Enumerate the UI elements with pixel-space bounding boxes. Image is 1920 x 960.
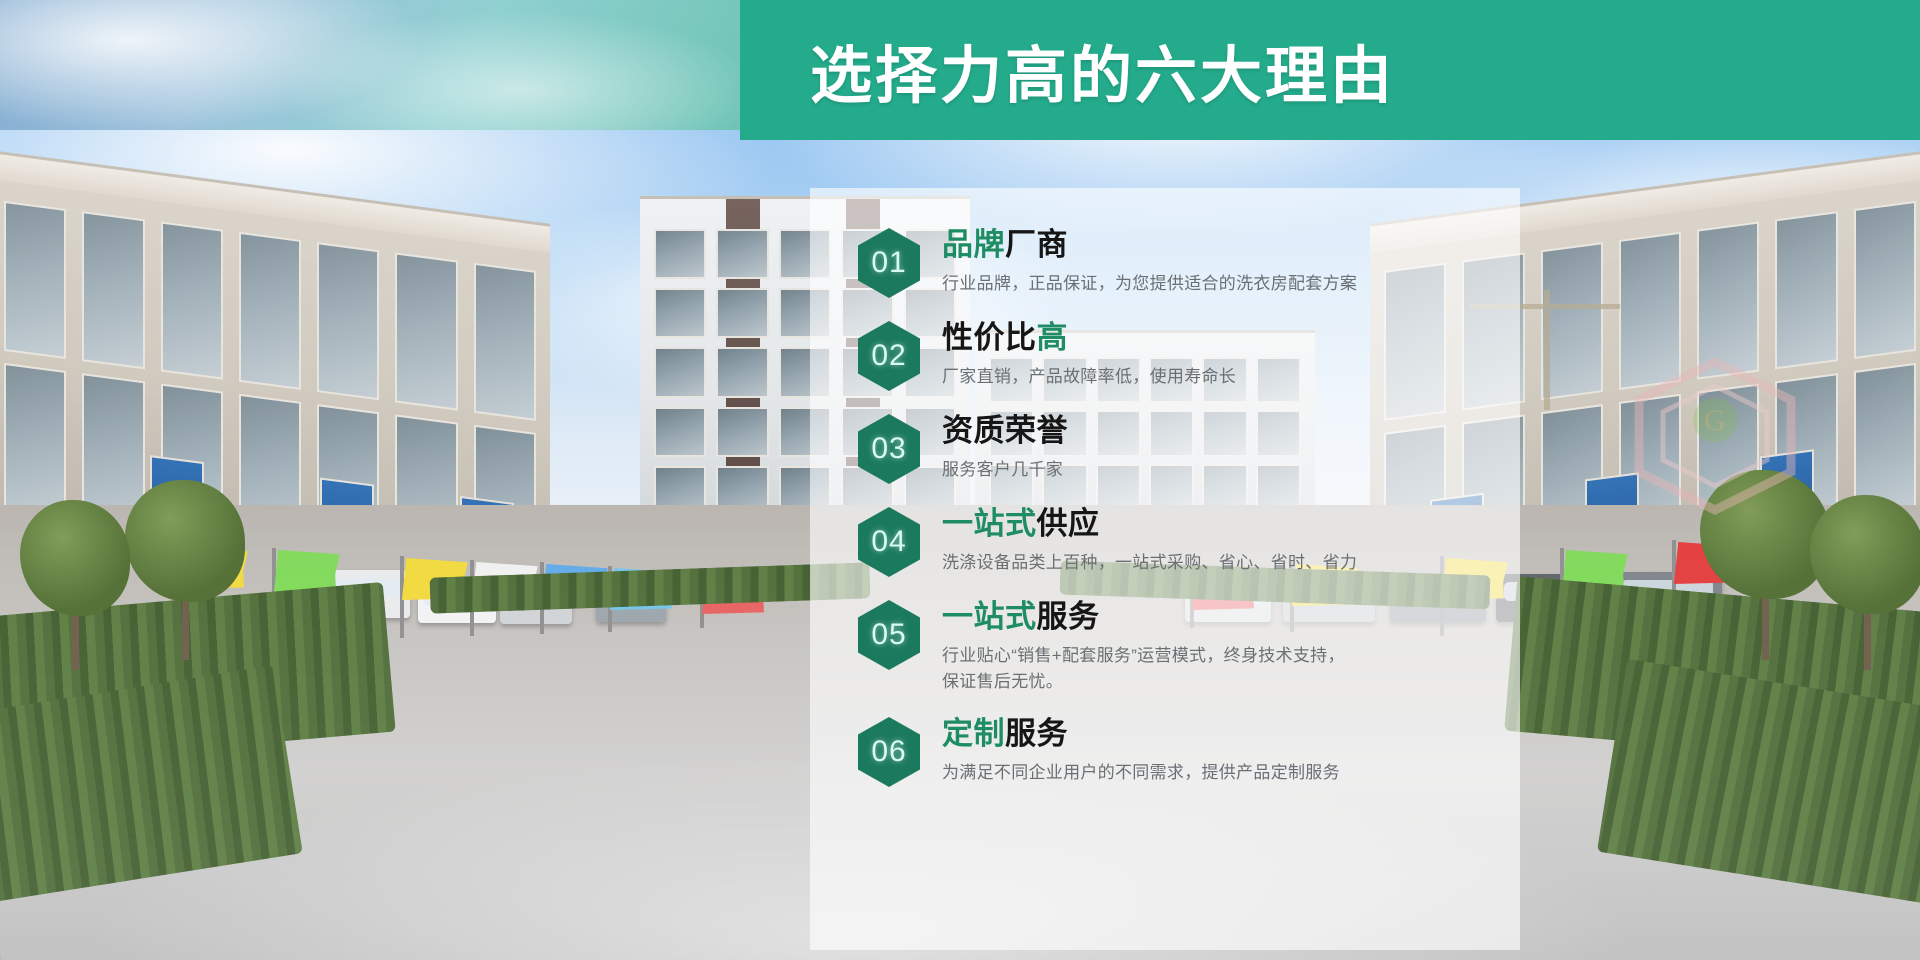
reason-title-dark-01: 厂商 — [1005, 227, 1068, 262]
reason-body-04: 一站式供应 洗涤设备品类上百种，一站式采购、省心、省时、省力 — [942, 505, 1357, 575]
reason-number-05: 05 — [871, 620, 906, 650]
flag — [400, 556, 404, 638]
reason-badge-04: 04 — [858, 507, 920, 577]
reason-item-01[interactable]: 01 品牌厂商 行业品牌，正品保证，为您提供适合的洗衣房配套方案 — [858, 226, 1357, 298]
reason-title-03: 资质荣誉 — [942, 414, 1068, 449]
header-banner: 选择力高的六大理由 — [0, 0, 1920, 140]
reason-item-06[interactable]: 06 定制服务 为满足不同企业用户的不同需求，提供产品定制服务 — [858, 715, 1340, 787]
tree — [1810, 495, 1920, 670]
reason-title-green-04: 一站式 — [942, 506, 1037, 541]
reason-badge-02: 02 — [858, 321, 920, 391]
reason-title-05: 一站式服务 — [942, 600, 1345, 635]
reason-body-06: 定制服务 为满足不同企业用户的不同需求，提供产品定制服务 — [942, 715, 1340, 785]
reason-title-dark-03: 资质荣誉 — [942, 413, 1068, 448]
banner-left-gradient — [0, 0, 740, 130]
reason-badge-01: 01 — [858, 228, 920, 298]
tree — [20, 500, 130, 670]
reason-body-03: 资质荣誉 服务客户几千家 — [942, 412, 1068, 482]
tree — [125, 480, 245, 660]
reason-title-green-01: 品牌 — [942, 227, 1005, 262]
reason-desc-05-line2: 保证售后无忧。 — [942, 670, 1345, 695]
reason-title-dark-05: 服务 — [1037, 599, 1100, 634]
reason-title-04: 一站式供应 — [942, 507, 1357, 542]
reason-body-02: 性价比高 厂家直销，产品故障率低，使用寿命长 — [942, 319, 1236, 389]
reason-title-dark-02: 性价比 — [942, 320, 1037, 355]
reason-desc-03: 服务客户几千家 — [942, 458, 1068, 483]
reason-title-02: 性价比高 — [942, 321, 1236, 356]
slide-canvas: 选择力高的六大理由 G 01 品牌厂商 行业品牌，正品保证，为您提供适合的洗衣房… — [0, 0, 1920, 960]
reason-desc-06: 为满足不同企业用户的不同需求，提供产品定制服务 — [942, 761, 1340, 786]
reason-title-dark-04: 供应 — [1037, 506, 1100, 541]
reason-title-green-05: 一站式 — [942, 599, 1037, 634]
reason-badge-06: 06 — [858, 717, 920, 787]
reason-number-01: 01 — [871, 248, 906, 278]
reason-title-01: 品牌厂商 — [942, 228, 1357, 263]
reason-title-green-02: 高 — [1037, 320, 1069, 355]
reason-title-dark-06: 服务 — [1005, 716, 1068, 751]
reason-body-05: 一站式服务 行业贴心“销售+配套服务”运营模式，终身技术支持， 保证售后无忧。 — [942, 598, 1345, 695]
reason-desc-01: 行业品牌，正品保证，为您提供适合的洗衣房配套方案 — [942, 272, 1357, 297]
reason-number-03: 03 — [871, 434, 906, 464]
page-title: 选择力高的六大理由 — [810, 25, 1395, 115]
reason-item-04[interactable]: 04 一站式供应 洗涤设备品类上百种，一站式采购、省心、省时、省力 — [858, 505, 1357, 577]
reason-title-06: 定制服务 — [942, 717, 1340, 752]
reason-number-04: 04 — [871, 527, 906, 557]
reason-desc-02: 厂家直销，产品故障率低，使用寿命长 — [942, 365, 1236, 390]
reasons-panel: G 01 品牌厂商 行业品牌，正品保证，为您提供适合的洗衣房配套方案 02 性价… — [810, 188, 1520, 950]
reason-body-01: 品牌厂商 行业品牌，正品保证，为您提供适合的洗衣房配套方案 — [942, 226, 1357, 296]
reason-title-green-06: 定制 — [942, 716, 1005, 751]
reason-badge-03: 03 — [858, 414, 920, 484]
reason-desc-05-line1: 行业贴心“销售+配套服务”运营模式，终身技术支持， — [942, 644, 1345, 669]
reason-desc-04: 洗涤设备品类上百种，一站式采购、省心、省时、省力 — [942, 551, 1357, 576]
banner-right-block: 选择力高的六大理由 — [740, 0, 1920, 140]
reason-item-02[interactable]: 02 性价比高 厂家直销，产品故障率低，使用寿命长 — [858, 319, 1236, 391]
reason-number-02: 02 — [871, 341, 906, 371]
reason-badge-05: 05 — [858, 600, 920, 670]
reason-number-06: 06 — [871, 737, 906, 767]
reason-item-05[interactable]: 05 一站式服务 行业贴心“销售+配套服务”运营模式，终身技术支持， 保证售后无… — [858, 598, 1345, 695]
reason-item-03[interactable]: 03 资质荣誉 服务客户几千家 — [858, 412, 1068, 484]
